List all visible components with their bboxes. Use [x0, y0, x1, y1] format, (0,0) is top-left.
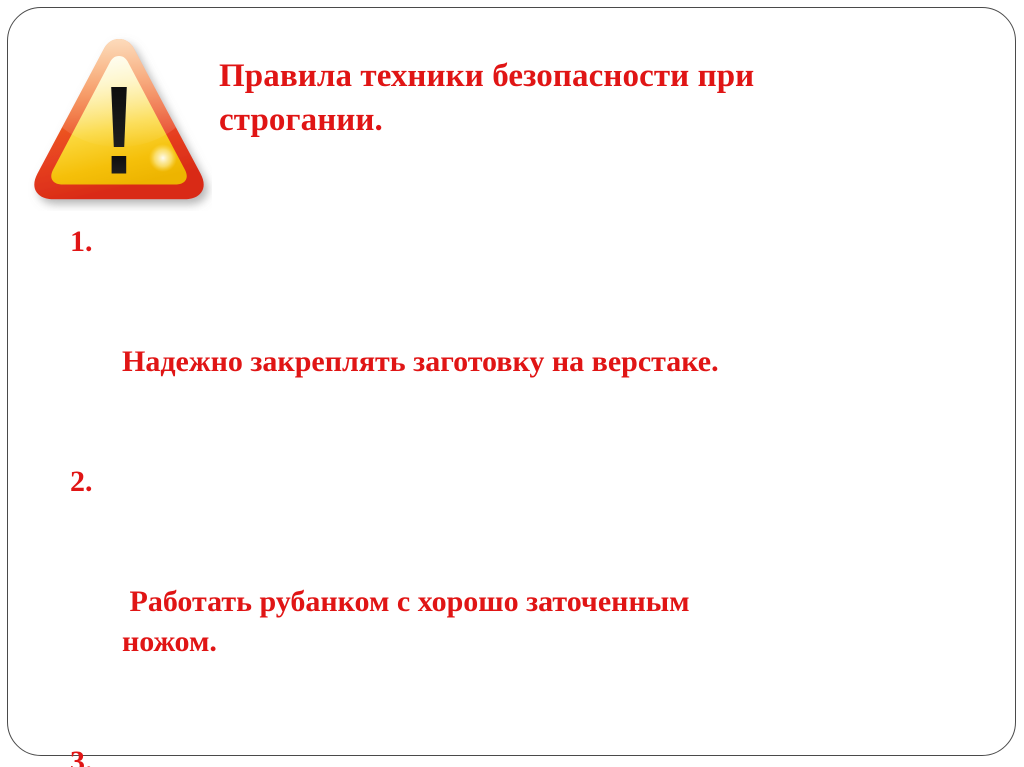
- list-item-text: Работать рубанком с хорошо заточенным но…: [122, 582, 950, 662]
- list-item: 1. Надежно закреплять заготовку на верст…: [70, 222, 950, 462]
- list-item: 3. Не проверять руками остроту лезвия и …: [70, 742, 950, 767]
- list-item-number: 1.: [70, 222, 114, 262]
- list-item-text: Надежно закреплять заготовку на верстаке…: [122, 342, 950, 382]
- safety-rules-list: 1. Надежно закреплять заготовку на верст…: [70, 222, 950, 767]
- list-item-number: 2.: [70, 462, 114, 502]
- list-item-number: 3.: [70, 742, 114, 767]
- page-title-line-2: строгании.: [219, 98, 919, 142]
- page-title: Правила техники безопасности при строган…: [219, 54, 919, 142]
- list-item: 2. Работать рубанком с хорошо заточенным…: [70, 462, 950, 742]
- warning-triangle-icon: [26, 25, 212, 211]
- exclamation-mark-glyph: [111, 87, 127, 174]
- slide-canvas: Правила техники безопасности при строган…: [0, 0, 1024, 767]
- page-title-line-1: Правила техники безопасности при: [219, 54, 919, 98]
